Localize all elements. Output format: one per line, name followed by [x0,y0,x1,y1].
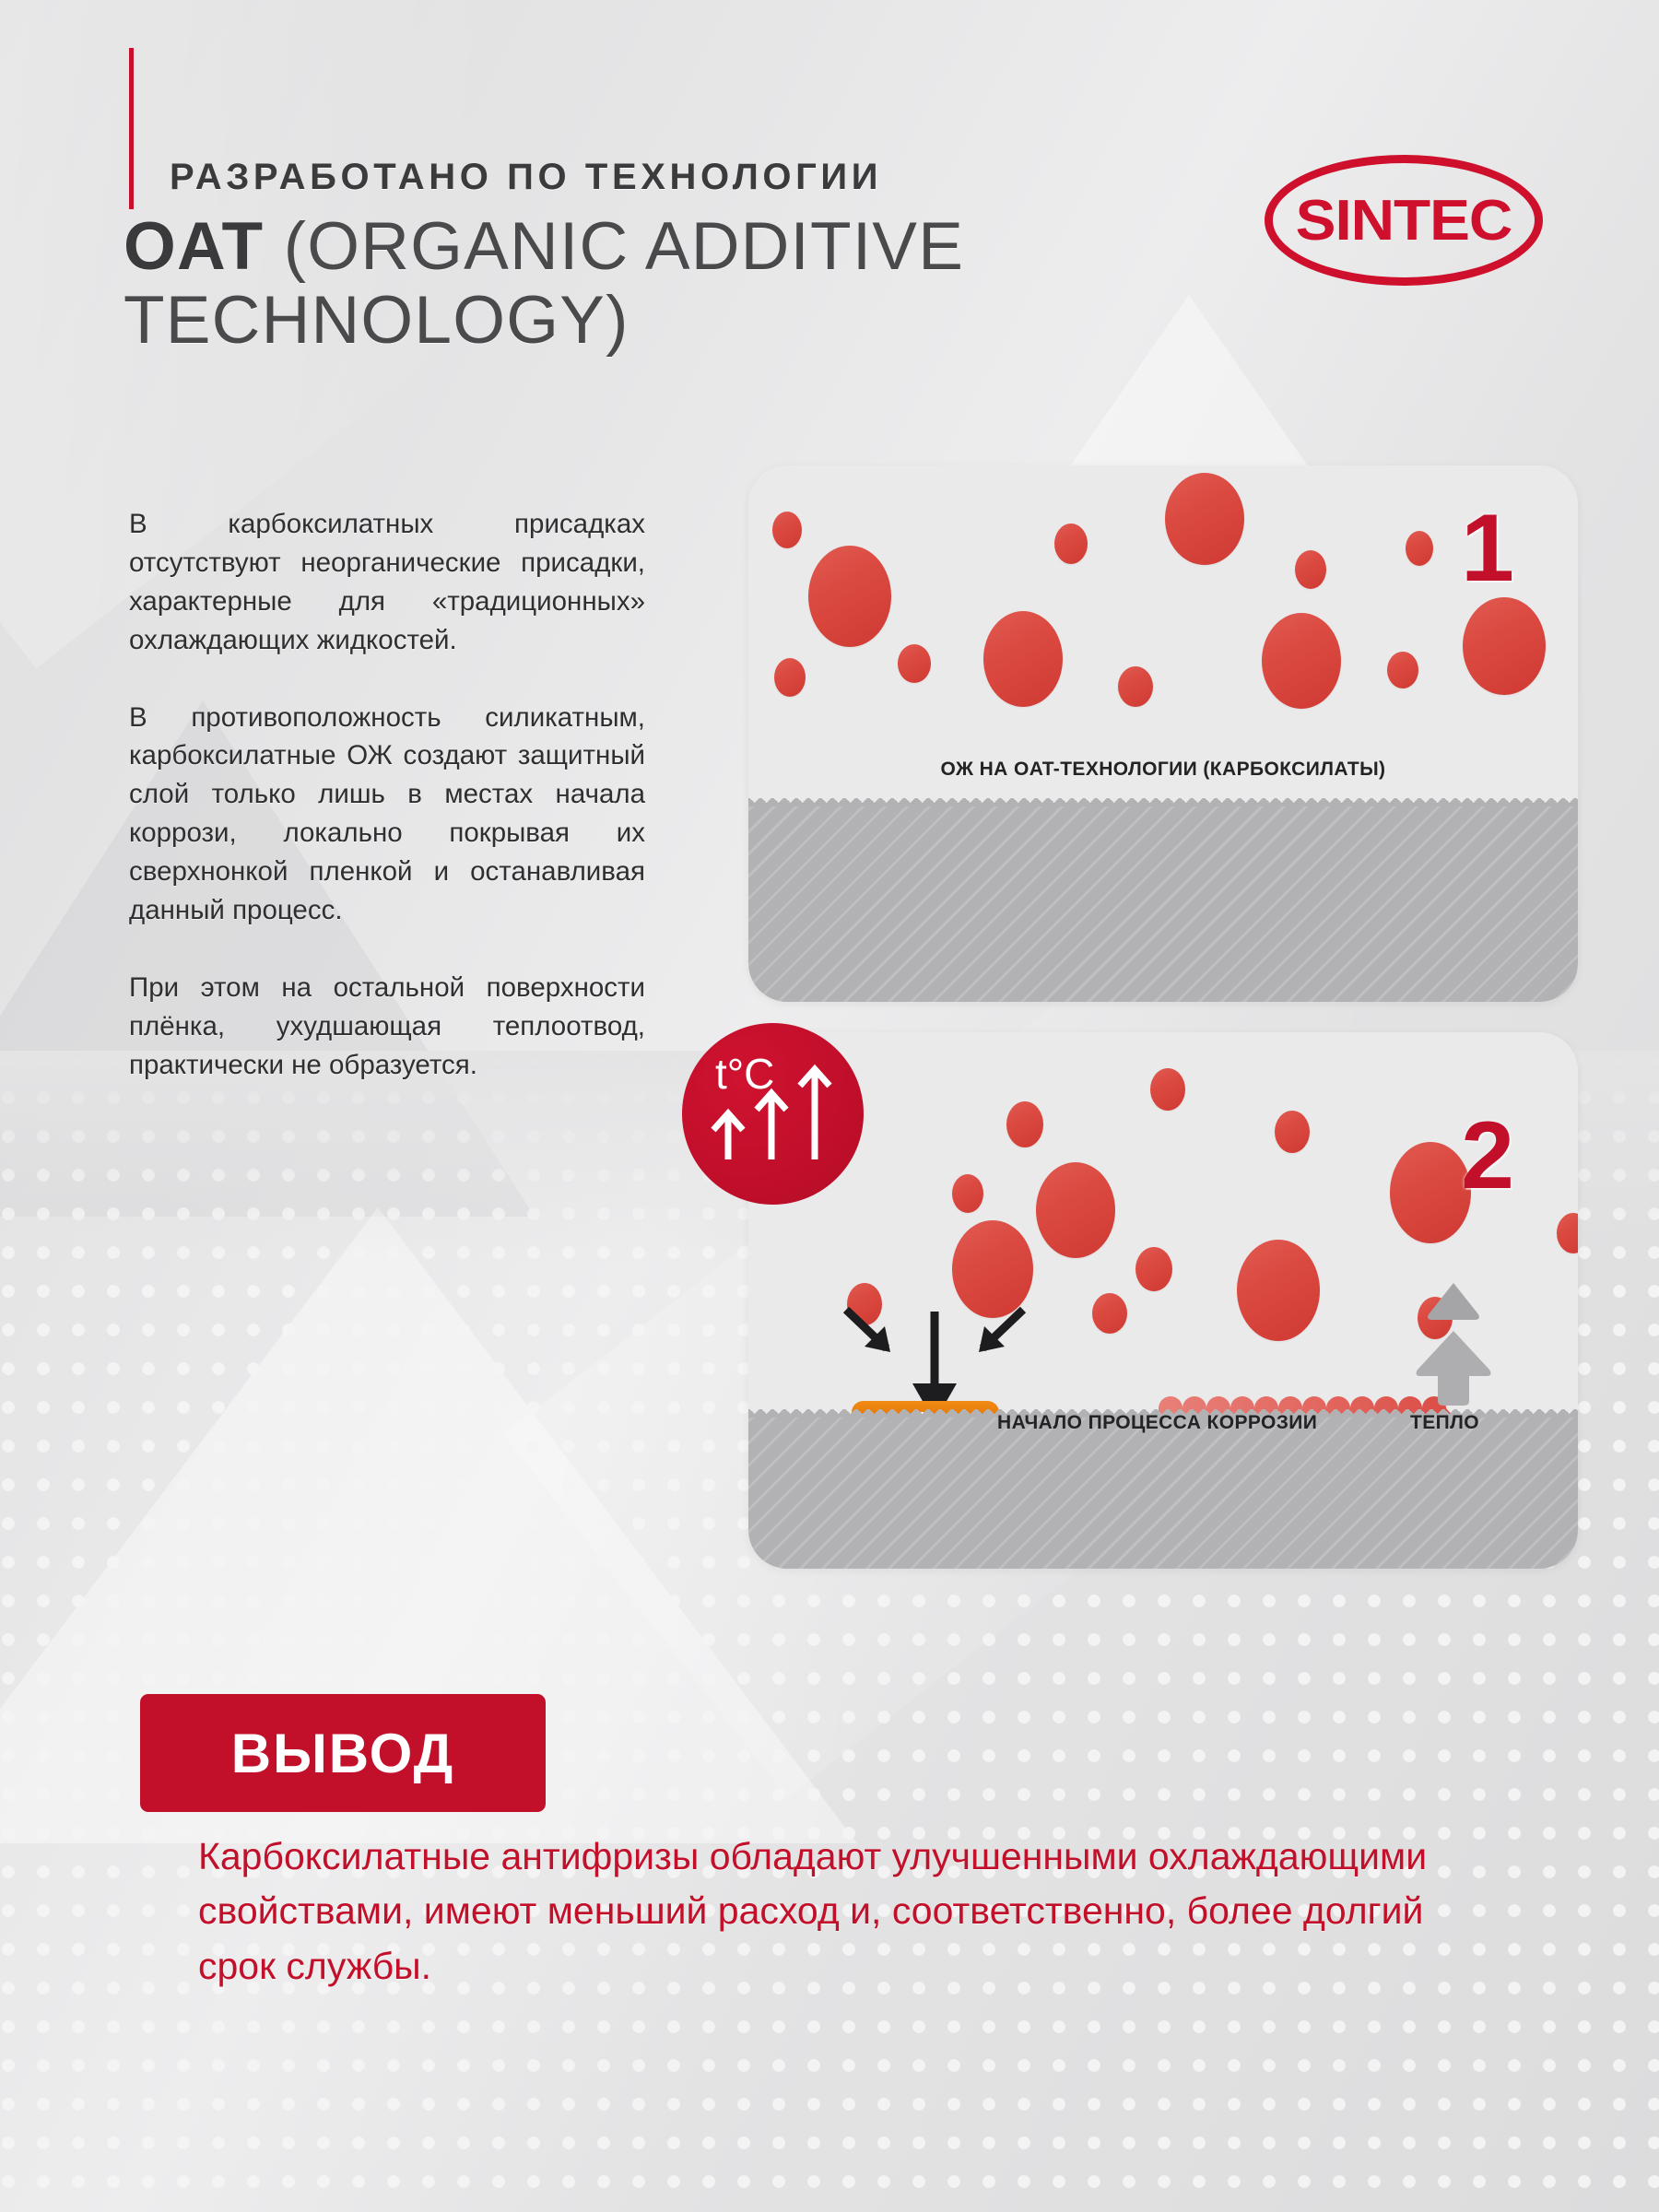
bubble [1237,1240,1320,1341]
temperature-badge: t°C [682,1023,864,1205]
logo-wordmark: SINTEC [1256,155,1551,286]
panel-carboxylate-coolant: 1 ОЖ НА OAT-ТЕХНОЛОГИИ (КАРБОКСИЛАТЫ) [748,465,1578,1002]
bubble [983,611,1063,707]
bubble [1262,613,1341,709]
panel2-metal-surface [748,1418,1578,1569]
bubble [1054,524,1088,564]
bubble [808,546,891,647]
page-title-strong: OAT [124,209,264,284]
bubble [1006,1101,1043,1147]
metal-hatch-pattern [748,1418,1578,1569]
panel1-metal-surface [748,806,1578,1002]
conclusion-badge-label: ВЫВОД [231,1722,455,1785]
panel-corrosion-process: 2 НАЧАЛО ПРОЦЕССА КОРРОЗИИ ТЕПЛО [748,1032,1578,1569]
rising-arrows-icon [682,1023,864,1205]
body-text-column: В карбоксилатных присадках отсутствуют н… [129,505,645,1084]
bubble [1036,1162,1115,1258]
body-paragraph-2: В противоположность силикатным, карбокси… [129,699,645,930]
bubble [1463,597,1546,695]
body-paragraph-3: При этом на остальной поверхности плёнка… [129,969,645,1085]
body-paragraph-1: В карбоксилатных присадках отсутствуют н… [129,505,645,660]
bubble [1150,1068,1185,1111]
panel2-caption-corrosion: НАЧАЛО ПРОЦЕССА КОРРОЗИИ [997,1412,1317,1434]
panel-number: 1 [1461,500,1512,596]
bubble [1390,1142,1471,1243]
sintec-logo: SINTEC [1265,155,1543,286]
bubble [898,644,931,683]
header-accent-rule [129,48,134,209]
bubble [772,512,802,548]
bubble [1092,1293,1127,1334]
conclusion-text: Карбоксилатные антифризы обладают улучше… [198,1830,1507,1994]
bubble [952,1174,983,1213]
bubble [1295,550,1326,589]
bubble [1406,531,1433,566]
panel2-caption-heat: ТЕПЛО [1410,1412,1479,1434]
bubble [1135,1247,1172,1291]
conclusion-badge: ВЫВОД [140,1694,546,1812]
bubble [1275,1111,1310,1153]
metal-hatch-pattern [748,806,1578,1002]
bubble [774,658,806,697]
page-title: OAT (ORGANIC ADDITIVE TECHNOLOGY) [124,210,1156,357]
bubble [1165,473,1244,565]
header-kicker: РАЗРАБОТАНО ПО ТЕХНОЛОГИИ [170,157,882,198]
bubble [1118,666,1153,707]
header: РАЗРАБОТАНО ПО ТЕХНОЛОГИИ OAT (ORGANIC A… [0,0,1659,406]
panel-number: 2 [1461,1108,1512,1204]
panel1-caption: ОЖ НА OAT-ТЕХНОЛОГИИ (КАРБОКСИЛАТЫ) [748,759,1578,781]
bubble [1387,652,1418,688]
